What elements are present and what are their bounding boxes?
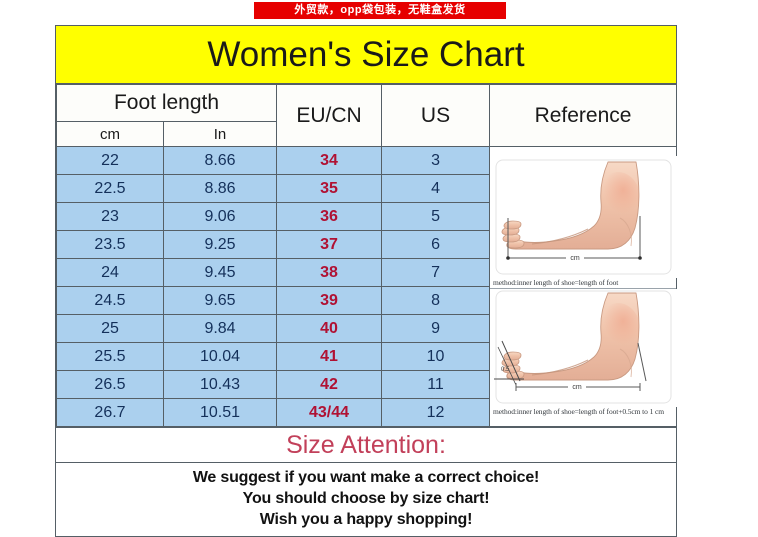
cell-us: 6 bbox=[382, 231, 490, 259]
cell-us: 5 bbox=[382, 203, 490, 231]
cell-inch: 10.04 bbox=[164, 343, 277, 371]
column-header-us: US bbox=[382, 85, 490, 147]
promo-banner: 外贸款，opp袋包装，无鞋盒发货 bbox=[254, 2, 506, 19]
cell-inch: 9.06 bbox=[164, 203, 277, 231]
column-header-inch: In bbox=[164, 122, 277, 147]
chart-title-band: Women's Size Chart bbox=[56, 26, 676, 84]
cell-inch: 10.51 bbox=[164, 399, 277, 427]
cell-cm: 22.5 bbox=[57, 175, 164, 203]
reference-diagram-bottom: 0.5 cm bbox=[490, 288, 676, 417]
table-header-row-main: Foot length EU/CN US Reference bbox=[57, 85, 677, 122]
cell-us: 7 bbox=[382, 259, 490, 287]
cell-inch: 8.86 bbox=[164, 175, 277, 203]
cell-eu-cn: 38 bbox=[277, 259, 382, 287]
column-header-cm: cm bbox=[57, 122, 164, 147]
column-header-eu-cn: EU/CN bbox=[277, 85, 382, 147]
size-chart-table: Foot length EU/CN US Reference cm In 22 … bbox=[56, 84, 677, 427]
foot-side-view-icon: cm bbox=[490, 156, 676, 278]
reference-diagram-top: cm method:inner length of shoe=length of… bbox=[490, 156, 676, 288]
foot-side-view-with-allowance-icon: 0.5 cm bbox=[490, 289, 676, 407]
cell-us: 12 bbox=[382, 399, 490, 427]
size-chart-frame: Women's Size Chart Foot length EU/CN US … bbox=[55, 25, 677, 537]
cell-inch: 10.43 bbox=[164, 371, 277, 399]
table-body: 22 8.66 34 3 bbox=[57, 147, 677, 427]
column-header-reference: Reference bbox=[490, 85, 677, 147]
cell-eu-cn: 36 bbox=[277, 203, 382, 231]
cell-us: 9 bbox=[382, 315, 490, 343]
cell-eu-cn: 34 bbox=[277, 147, 382, 175]
cell-inch: 9.45 bbox=[164, 259, 277, 287]
svg-text:cm: cm bbox=[570, 255, 580, 262]
cell-cm: 23.5 bbox=[57, 231, 164, 259]
svg-text:0.5: 0.5 bbox=[501, 367, 510, 373]
cell-cm: 26.7 bbox=[57, 399, 164, 427]
column-header-foot-length: Foot length bbox=[57, 85, 277, 122]
note-line: We suggest if you want make a correct ch… bbox=[56, 467, 676, 488]
cell-us: 11 bbox=[382, 371, 490, 399]
cell-eu-cn: 35 bbox=[277, 175, 382, 203]
svg-text:cm: cm bbox=[572, 384, 582, 391]
cell-inch: 9.84 bbox=[164, 315, 277, 343]
table-header: Foot length EU/CN US Reference cm In bbox=[57, 85, 677, 147]
size-attention-notes: We suggest if you want make a correct ch… bbox=[56, 463, 676, 536]
cell-eu-cn: 43/44 bbox=[277, 399, 382, 427]
cell-eu-cn: 41 bbox=[277, 343, 382, 371]
cell-cm: 23 bbox=[57, 203, 164, 231]
page-title: Women's Size Chart bbox=[207, 35, 524, 75]
cell-us: 4 bbox=[382, 175, 490, 203]
reference-diagrams-cell: cm method:inner length of shoe=length of… bbox=[490, 147, 677, 427]
cell-eu-cn: 40 bbox=[277, 315, 382, 343]
cell-cm: 25.5 bbox=[57, 343, 164, 371]
reference-caption-top: method:inner length of shoe=length of fo… bbox=[490, 278, 676, 288]
note-line: You should choose by size chart! bbox=[56, 488, 676, 509]
cell-cm: 24 bbox=[57, 259, 164, 287]
cell-us: 8 bbox=[382, 287, 490, 315]
cell-us: 10 bbox=[382, 343, 490, 371]
cell-cm: 22 bbox=[57, 147, 164, 175]
cell-us: 3 bbox=[382, 147, 490, 175]
size-attention-band: Size Attention: bbox=[56, 427, 676, 463]
size-attention-heading: Size Attention: bbox=[286, 431, 446, 460]
cell-cm: 25 bbox=[57, 315, 164, 343]
cell-cm: 26.5 bbox=[57, 371, 164, 399]
cell-inch: 9.25 bbox=[164, 231, 277, 259]
cell-eu-cn: 42 bbox=[277, 371, 382, 399]
cell-cm: 24.5 bbox=[57, 287, 164, 315]
note-line: Wish you a happy shopping! bbox=[56, 509, 676, 530]
cell-inch: 9.65 bbox=[164, 287, 277, 315]
cell-eu-cn: 37 bbox=[277, 231, 382, 259]
cell-inch: 8.66 bbox=[164, 147, 277, 175]
reference-caption-bottom: method:inner length of shoe=length of fo… bbox=[490, 407, 676, 417]
table-row: 22 8.66 34 3 bbox=[57, 147, 677, 175]
promo-banner-text: 外贸款，opp袋包装，无鞋盒发货 bbox=[294, 4, 465, 16]
cell-eu-cn: 39 bbox=[277, 287, 382, 315]
